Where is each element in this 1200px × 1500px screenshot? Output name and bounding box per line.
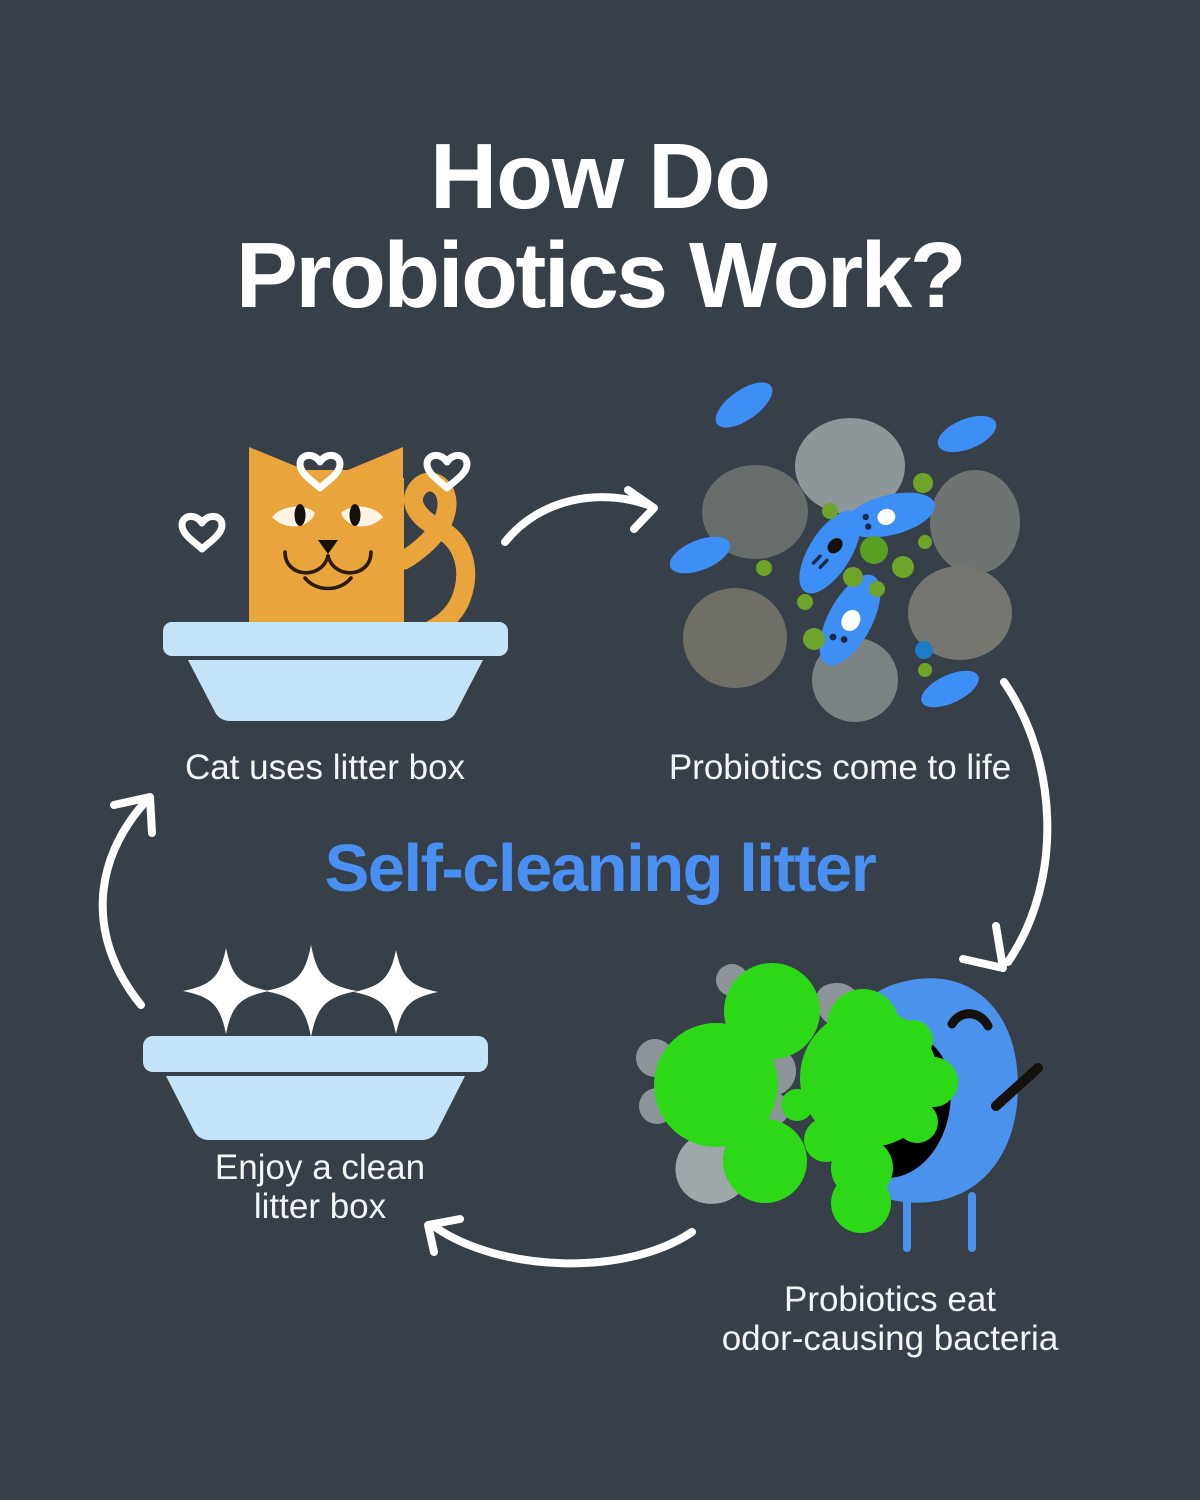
probiotic-rod	[665, 529, 736, 581]
bacteria-mouth	[840, 1032, 951, 1178]
heart-icon-right	[427, 455, 467, 488]
enzyme-dot	[803, 628, 825, 650]
sparkle-icon	[183, 948, 269, 1034]
enzyme-dot	[843, 567, 863, 587]
probiotic-rod-with-face	[841, 484, 940, 545]
clean-litterbox-rim	[143, 1036, 488, 1072]
heart-icon-left	[182, 516, 222, 549]
odor-molecule	[908, 1057, 958, 1107]
odor-molecule	[893, 1020, 933, 1060]
arrow-top	[505, 490, 654, 542]
bacteria-eye	[952, 1014, 988, 1026]
odor-molecule	[723, 1119, 807, 1203]
litterbox-rim-top	[163, 622, 508, 656]
caption-step-1: Cat uses litter box	[90, 748, 560, 787]
caption-step-3: Probiotics eat odor-causing bacteria	[640, 1280, 1140, 1358]
odor-pebble	[639, 1088, 675, 1124]
probiotic-rod-with-face	[807, 566, 893, 675]
odor-molecule	[896, 1101, 938, 1143]
odor-molecule	[831, 1137, 893, 1199]
odor-molecule	[831, 1173, 891, 1233]
enzyme-dot	[892, 556, 914, 578]
odor-molecule	[724, 963, 820, 1059]
sparkle-icon	[354, 950, 438, 1034]
cat-tail	[404, 482, 466, 638]
cat-ear-right	[348, 447, 403, 510]
odor-molecule	[841, 1113, 879, 1151]
cat-mouth-right	[328, 552, 371, 573]
enzyme-dot	[869, 581, 885, 597]
sparkle-icon	[265, 945, 357, 1037]
odor-pebble	[746, 1046, 796, 1096]
odor-molecule	[827, 989, 899, 1061]
caption-step-4: Enjoy a clean litter box	[110, 1148, 530, 1226]
bacteria-arm	[996, 1068, 1038, 1106]
litter-pebble	[795, 418, 905, 514]
cat-ear-left	[249, 447, 305, 510]
cat-head	[249, 470, 403, 640]
enzyme-dot	[797, 594, 813, 610]
probiotic-rod-with-face	[787, 501, 872, 603]
cat-mouth-left	[285, 552, 328, 573]
odor-pebble	[816, 983, 861, 1026]
page-title: How Do Probiotics Work?	[0, 130, 1200, 322]
cat-smile	[305, 578, 351, 589]
probiotic-rod	[933, 408, 1002, 459]
litterbox-basin-top	[188, 660, 483, 721]
enzyme-dot	[918, 535, 932, 549]
probiotic-rod	[708, 374, 779, 436]
bacteria-leg-right	[968, 1192, 976, 1252]
clean-litterbox-basin	[166, 1076, 465, 1140]
odor-molecule	[654, 1023, 778, 1147]
odor-molecule	[804, 1118, 848, 1162]
title-line-1: How Do	[0, 130, 1200, 223]
probiotic-rod	[916, 663, 984, 715]
litter-pebble	[930, 470, 1020, 574]
title-line-2: Probiotics Work?	[0, 229, 1200, 322]
enzyme-dot	[822, 503, 838, 519]
cat-eye-right	[341, 507, 383, 527]
odor-pebble	[755, 1092, 789, 1126]
enzyme-dot	[756, 560, 772, 576]
cat-pupil-right	[350, 504, 361, 526]
odor-pebble	[716, 964, 748, 996]
litter-pebble	[812, 638, 898, 722]
probiotic-antenna	[806, 1052, 842, 1078]
infographic-canvas: How Do Probiotics Work?	[0, 0, 1200, 1500]
cat-pupil-left	[295, 504, 306, 526]
bacteria-body	[832, 978, 1018, 1202]
heart-icon-top	[300, 455, 340, 488]
odor-pebble	[636, 1039, 674, 1077]
litter-pebble	[683, 588, 787, 688]
arrow-left	[103, 797, 152, 1005]
cat-eye-left	[272, 507, 315, 527]
litter-pebble	[702, 465, 808, 559]
cat-nose	[318, 540, 338, 554]
center-label-self-cleaning-litter: Self-cleaning litter	[150, 835, 1050, 902]
bacteria-leg-left	[903, 1192, 911, 1252]
enzyme-dot	[913, 473, 933, 493]
odor-pebble	[676, 1133, 749, 1204]
cat-body	[249, 478, 404, 638]
enzyme-dot	[860, 536, 888, 564]
enzyme-dot-blue	[915, 641, 933, 659]
odor-molecule	[800, 1009, 938, 1147]
odor-molecule	[781, 1089, 813, 1121]
enzyme-dot	[918, 663, 932, 677]
litter-pebble	[908, 566, 1012, 660]
caption-step-2: Probiotics come to life	[590, 748, 1090, 787]
arrow-right	[963, 682, 1047, 968]
